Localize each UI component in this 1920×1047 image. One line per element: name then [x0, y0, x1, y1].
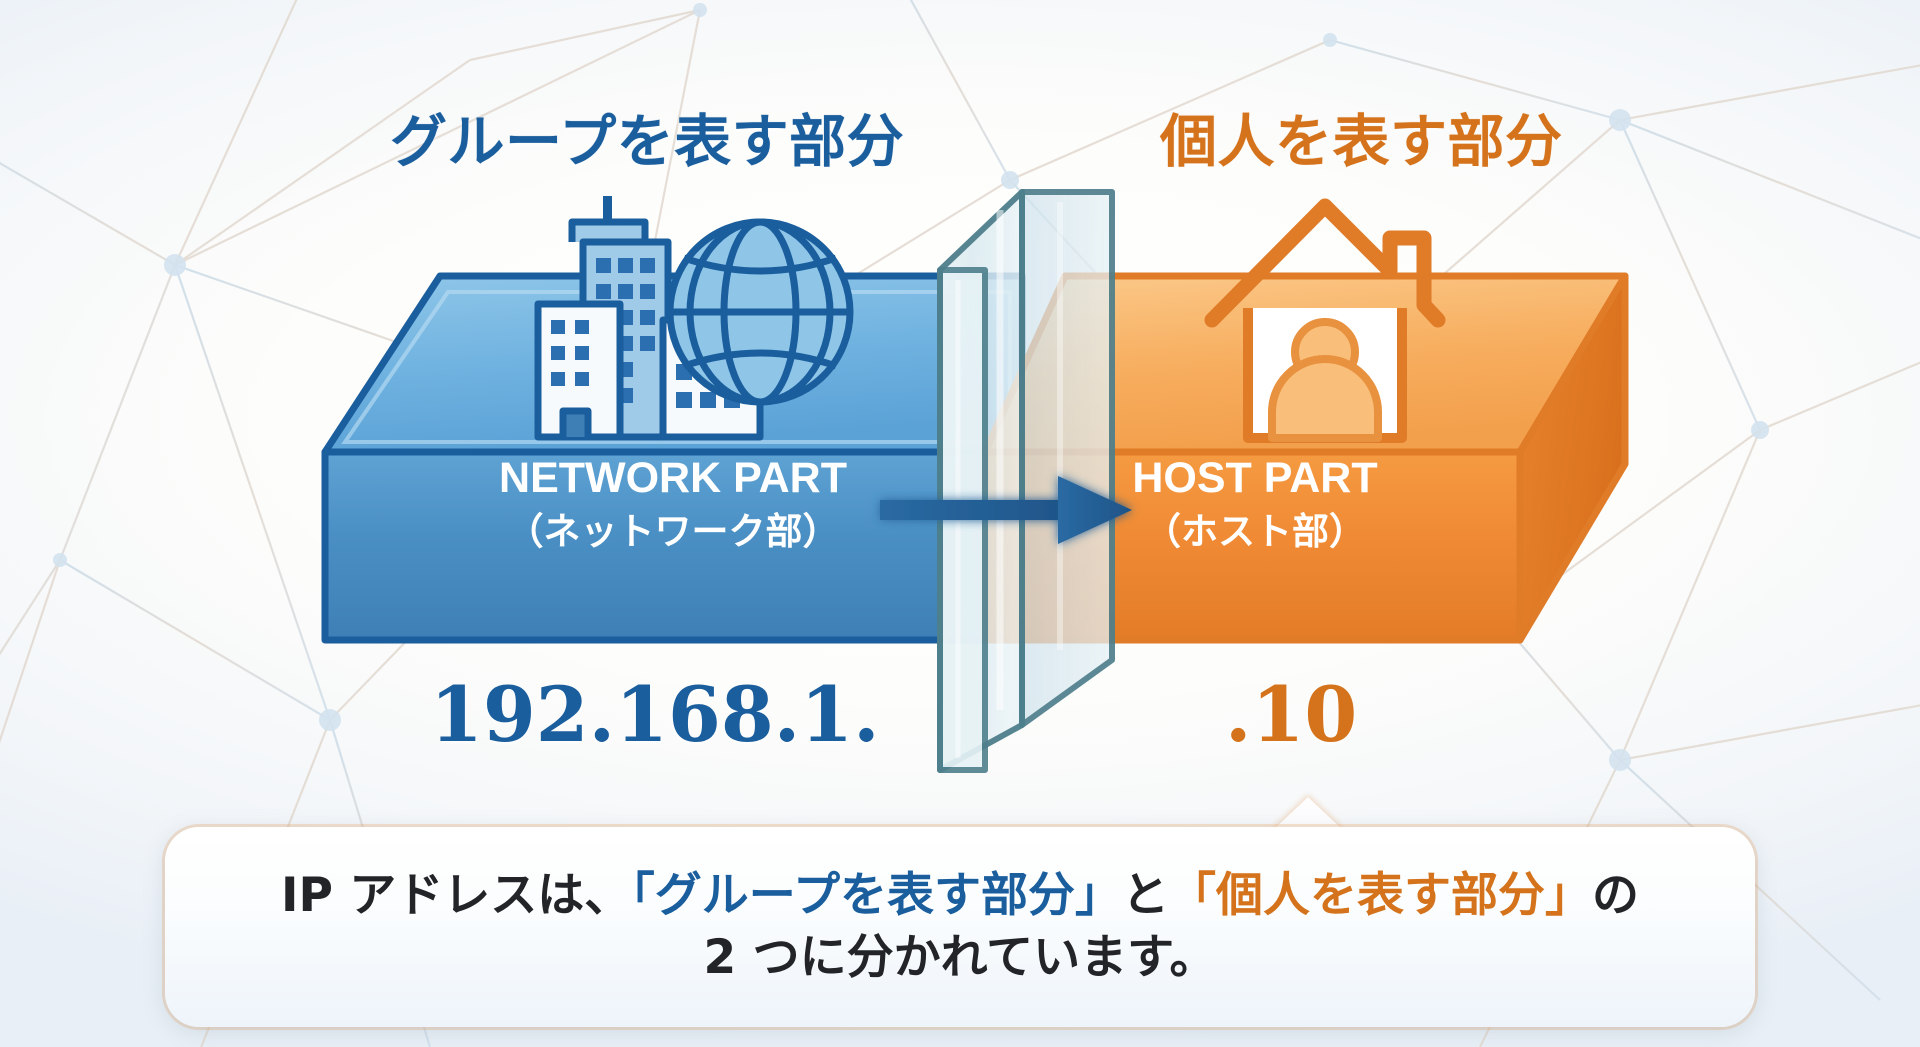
diagram-canvas: グループを表す部分 個人を表す部分	[0, 0, 1920, 1047]
glass-partition	[940, 192, 1112, 770]
caption-line1-orange: 「個人を表す部分」	[1169, 868, 1592, 923]
network-part-label-en: NETWORK PART	[499, 454, 847, 502]
house-with-person-icon	[1212, 206, 1438, 438]
host-part-label-en: HOST PART	[1132, 454, 1377, 502]
caption-box: IP アドレスは、「グループを表す部分」と「個人を表す部分」の 2 つに分かれて…	[165, 827, 1755, 1027]
host-ip-segment: .10	[1225, 670, 1357, 759]
caption-pointer	[1272, 797, 1344, 831]
globe-icon	[670, 222, 850, 402]
host-part-heading: 個人を表す部分	[1160, 96, 1563, 178]
host-part-label-jp: （ホスト部）	[1144, 510, 1366, 553]
caption-line1-end: の	[1592, 868, 1639, 923]
isometric-boxes-scene: NETWORK PART （ネットワーク部）	[0, 180, 1920, 800]
caption-line-2: 2 つに分かれています。	[704, 927, 1217, 989]
caption-line-1: IP アドレスは、「グループを表す部分」と「個人を表す部分」の	[281, 865, 1639, 927]
caption-line1-blue: 「グループを表す部分」	[631, 868, 1122, 923]
network-part-heading: グループを表す部分	[390, 96, 904, 178]
network-ip-segment: 192.168.1.	[430, 670, 880, 759]
network-part-label-jp: （ネットワーク部）	[507, 510, 840, 553]
caption-line1-part1: IP アドレスは、	[281, 868, 631, 923]
caption-line1-mid: と	[1122, 868, 1169, 923]
